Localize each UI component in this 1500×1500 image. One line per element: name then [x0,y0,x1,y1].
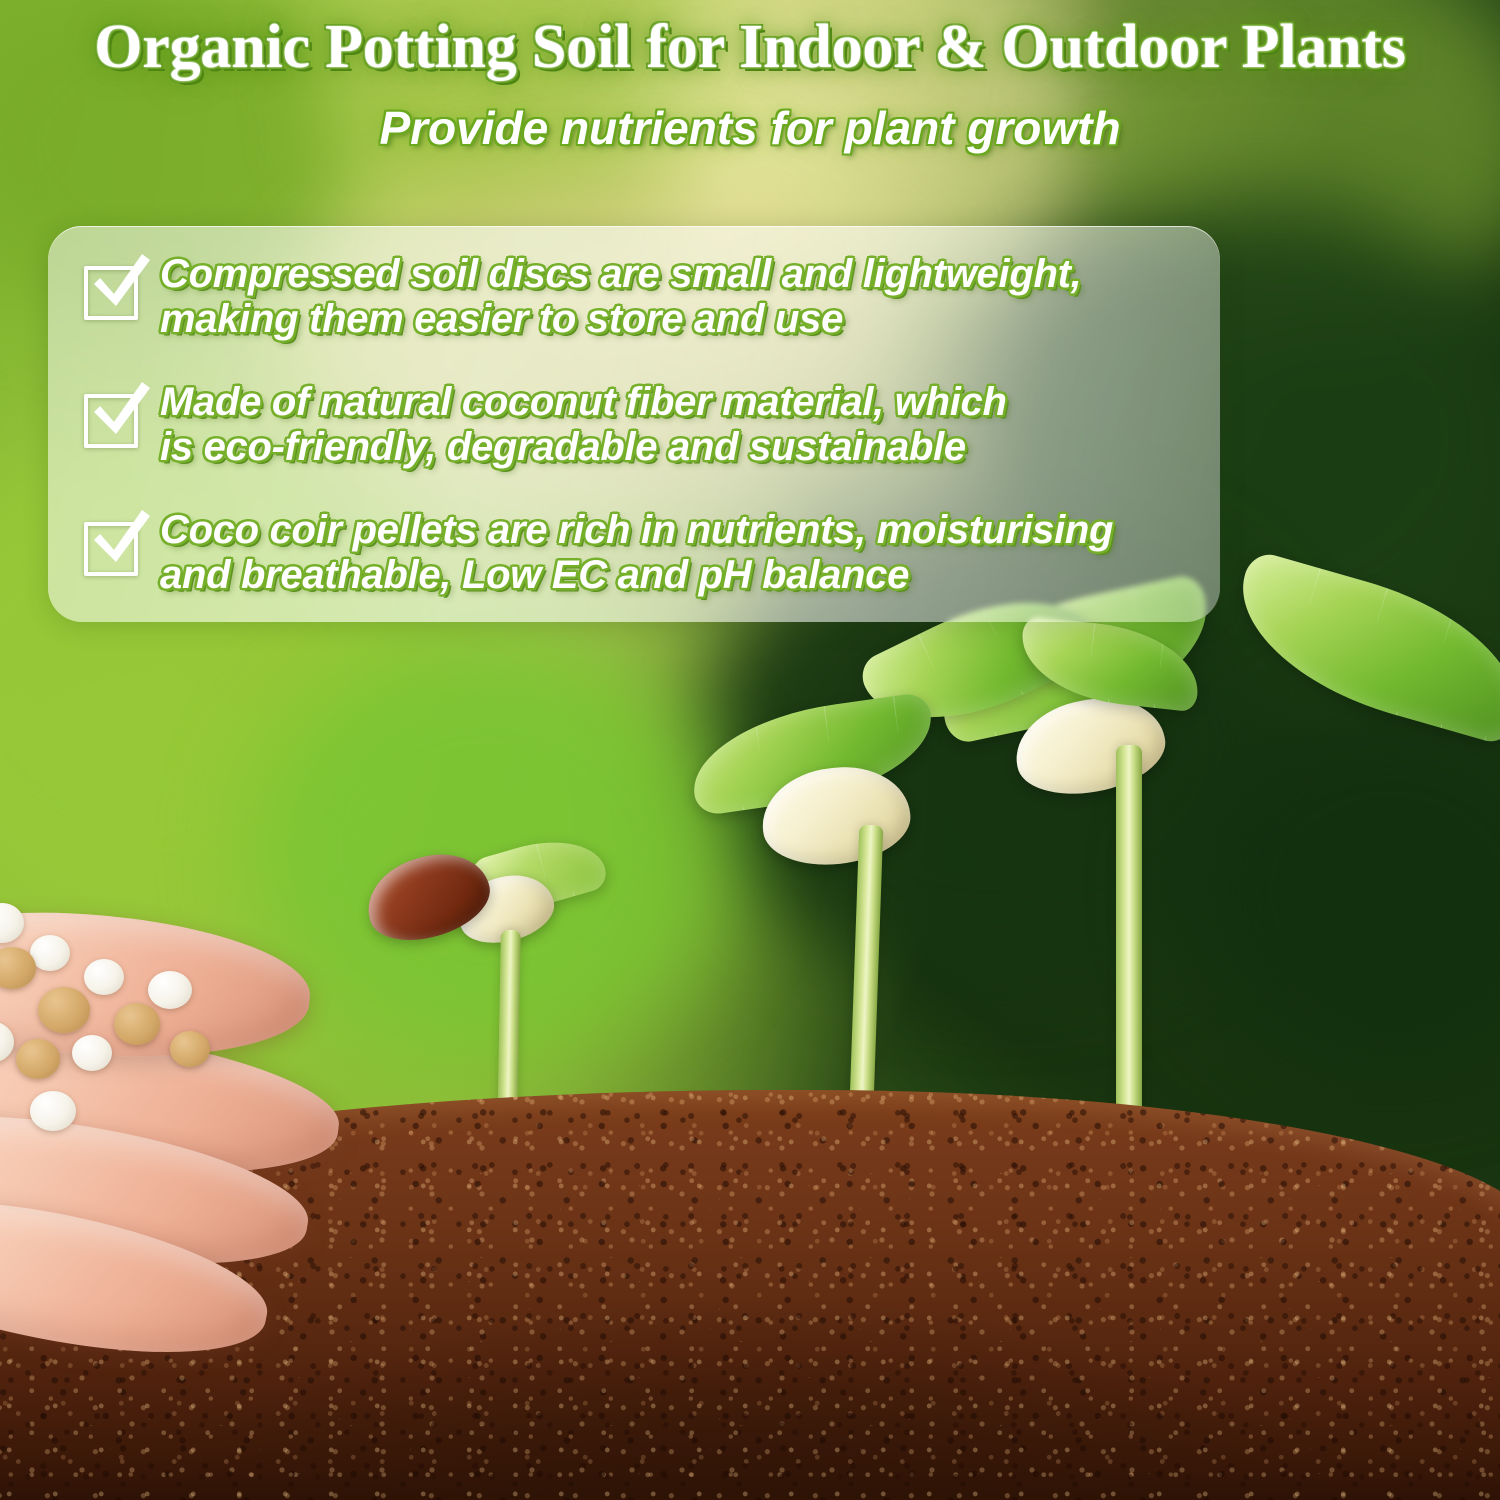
feature-item-3: Coco coir pellets are rich in nutrients,… [70,508,1190,598]
feature-item-1: Compressed soil discs are small and ligh… [70,252,1190,342]
leaf-right [1219,549,1500,747]
pellet [72,1035,112,1071]
pellet [148,971,192,1009]
feature-line: making them easier to store and use [160,297,1081,342]
pellet [170,1031,210,1067]
feature-line: and breathable, Low EC and pH balance [160,553,1113,598]
checkbox-checked-icon [84,514,146,580]
feature-line: Coco coir pellets are rich in nutrients,… [160,508,1113,553]
page-title: Organic Potting Soil for Indoor & Outdoo… [0,0,1500,79]
pellet [38,987,90,1033]
pellet [84,959,124,995]
checkbox-checked-icon [84,258,146,324]
leaf-upper-right [1016,616,1203,712]
feature-text-1: Compressed soil discs are small and ligh… [160,252,1081,342]
product-marketing-poster: Organic Potting Soil for Indoor & Outdoo… [0,0,1500,1500]
feature-line: Compressed soil discs are small and ligh… [160,252,1081,297]
pellet [16,1039,60,1079]
background-photo [0,0,1500,1500]
feature-line: is eco-friendly, degradable and sustaina… [160,425,1007,470]
pellet [114,1003,160,1045]
feature-item-2: Made of natural coconut fiber material, … [70,380,1190,470]
feature-line: Made of natural coconut fiber material, … [160,380,1007,425]
hand-holding-coco-pellets [0,735,430,1355]
checkbox-checked-icon [84,386,146,452]
feature-text-2: Made of natural coconut fiber material, … [160,380,1007,470]
feature-highlights-panel: Compressed soil discs are small and ligh… [48,226,1220,622]
pellet [30,935,70,971]
pellet [30,1091,76,1131]
feature-text-3: Coco coir pellets are rich in nutrients,… [160,508,1113,598]
headline-block: Organic Potting Soil for Indoor & Outdoo… [0,0,1500,200]
page-subtitle: Provide nutrients for plant growth [0,101,1500,155]
